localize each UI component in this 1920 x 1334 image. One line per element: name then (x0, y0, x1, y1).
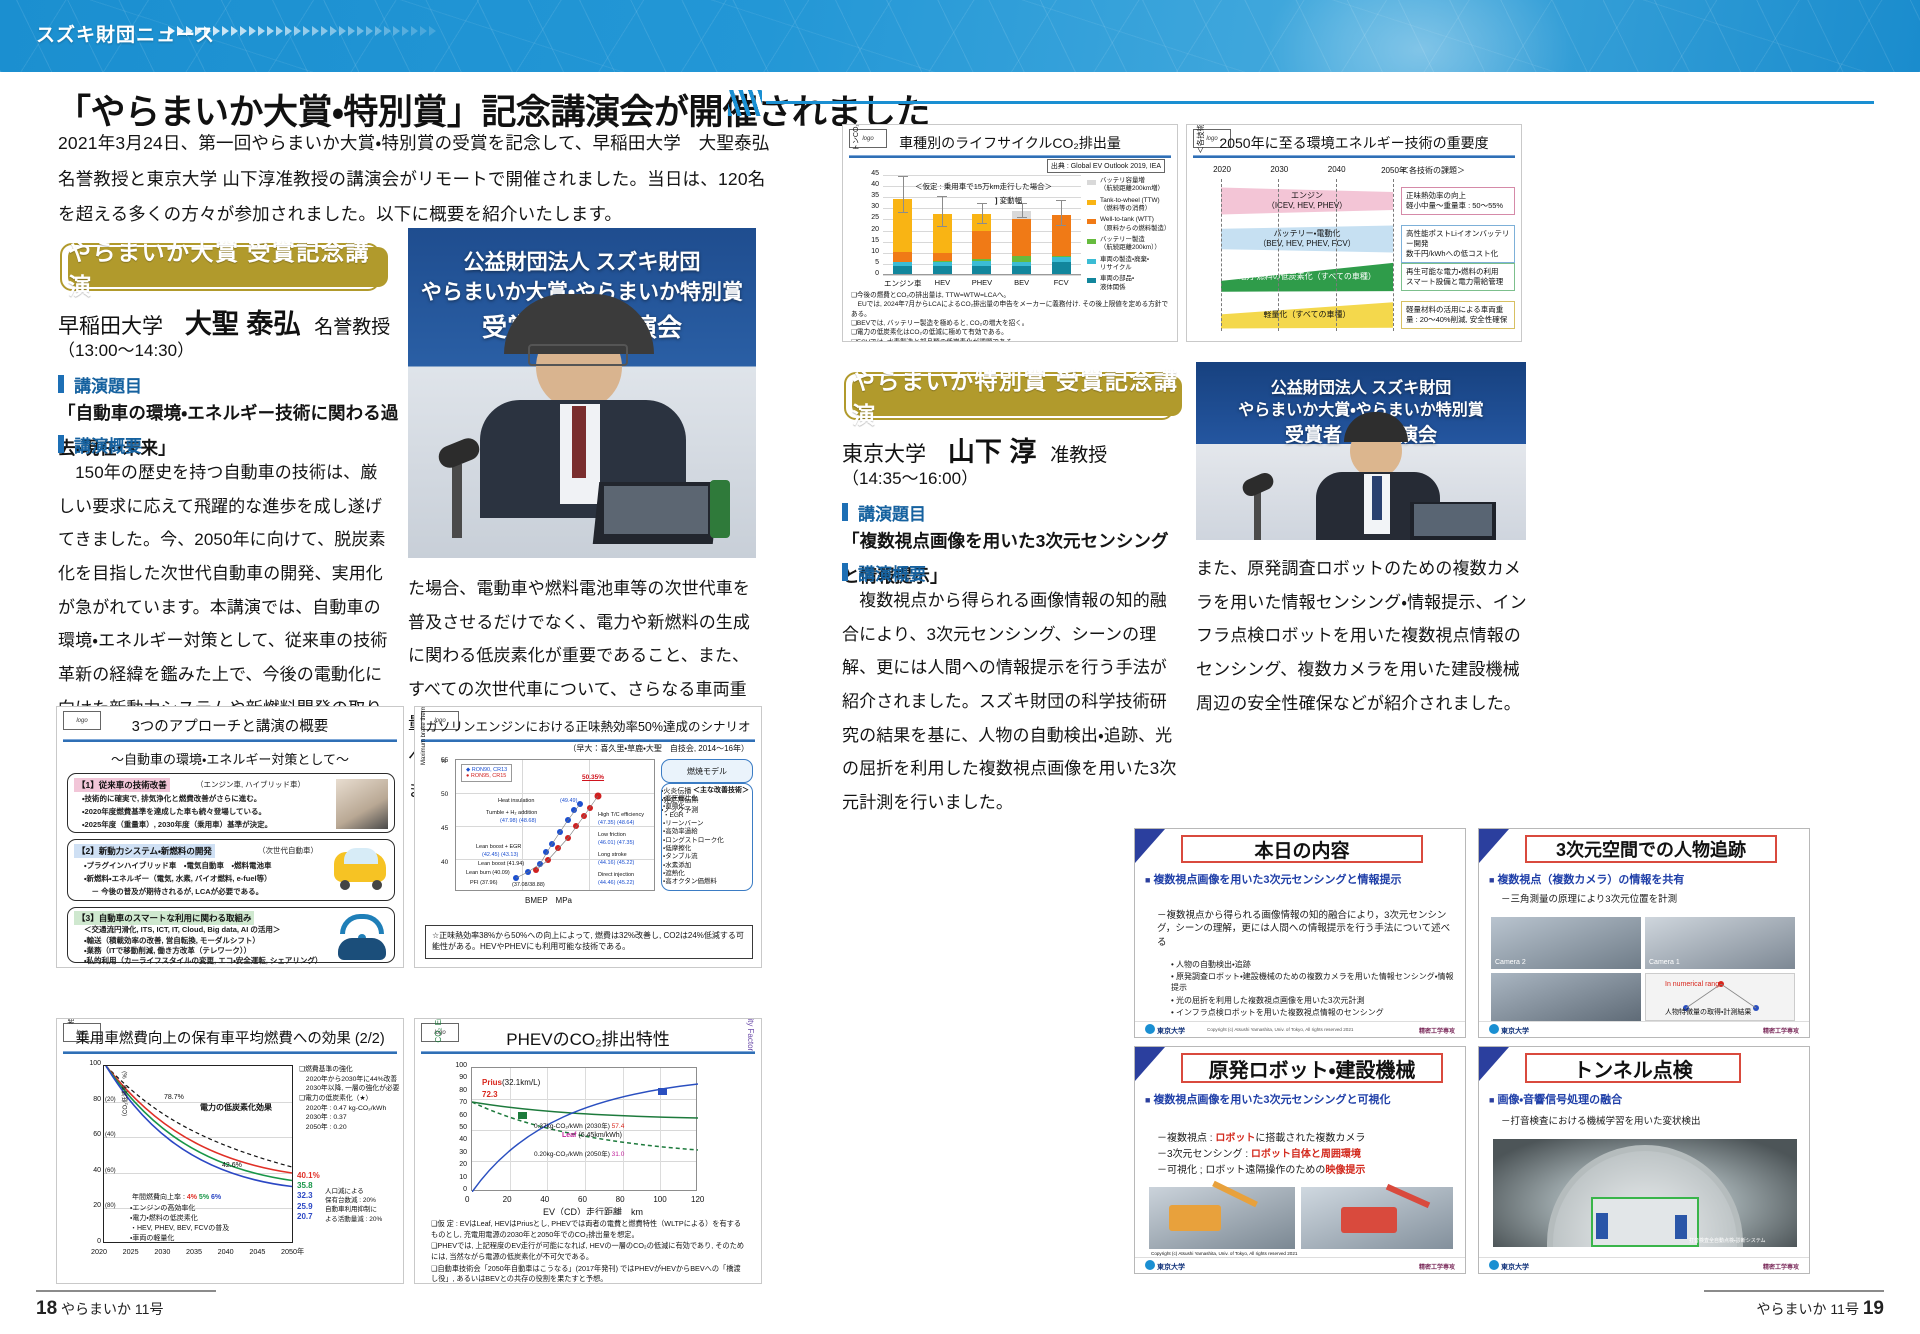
fleet-endlabel-4: 25.9 (297, 1202, 313, 1211)
award2-name: 山下 淳 (948, 437, 1037, 467)
tracking-corner-decor (1479, 829, 1509, 863)
gasoline-improve-item-6: ・ロングストローク化 (663, 837, 749, 845)
lca-legend-label: 車両の部品・ (1100, 275, 1177, 283)
fleet-xtick: 2035 (186, 1247, 202, 1256)
lca-legend-sub: （航続距離200km増） (1100, 185, 1177, 193)
phev-xtick: 20 (503, 1195, 512, 1204)
today-bullet-2: －複数視点から得られる画像情報の知的融合により，3次元センシング，シーンの理解，… (1157, 909, 1455, 949)
fleet-bullets: ・エンジンの高効率化 ・電力・燃料の低炭素化 ・HEV, PHEV, BEV, … (130, 1204, 229, 1245)
roadmap-dash (1278, 179, 1279, 331)
roadmap-band-label1: バッテリー・電動化 (1258, 229, 1355, 239)
lca-errlabel-row: ] 変動幅 (995, 195, 1022, 206)
lca-gridline (883, 175, 1081, 176)
tracking-cam2-label: Camera 2 (1495, 959, 1526, 966)
banner-glow (1260, 0, 1580, 72)
gasoline-improve-item-2: ・直噴化 (663, 803, 749, 811)
lca-legend-swatch (1087, 180, 1096, 185)
tunnel-worker-2-icon (1675, 1215, 1687, 1239)
nuclear-bullet-red: ロボット (1215, 1133, 1255, 1144)
ev-car-wheel2-icon (340, 880, 350, 890)
fleet-y2tick: (20) (105, 1097, 116, 1103)
lca-legend-sub: （航続距離200km）） (1100, 244, 1177, 252)
ev-car-window-icon (344, 848, 378, 864)
fleet-plot-area: 78.7% 42.6% 電力の低炭素化効果 年間燃費向上率 : 4% 5% 6%… (103, 1065, 293, 1243)
slide-today-title: 本日の内容 (1181, 835, 1423, 863)
lca-gridline (883, 197, 1081, 198)
approach-box-2: 【2】新動力システム・新燃料の開発 （次世代自動車） ・プラグインハイブリッド車… (67, 839, 395, 901)
slide-nuclear: 原発ロボット・建設機械 複数視点画像を用いた3次元センシングと可視化 －複数視点… (1134, 1046, 1466, 1274)
lca-xtick: FCV (1041, 278, 1081, 287)
phev-ytick: 80 (447, 1087, 467, 1094)
lca-footnote-4: ❑電力の低炭素化はCO₂の低減に極めて有効である。 (851, 328, 1171, 337)
slide-approaches-title: 3つのアプローチと講演の概要 (57, 715, 403, 736)
fleet-xtick: 2020 (91, 1247, 107, 1256)
today-sub-bullet-1: • 人物の自動検出・追跡 (1171, 959, 1457, 970)
gasoline-improve-item-7: ・低摩擦化 (663, 845, 749, 853)
phev-xtick: 40 (540, 1195, 549, 1204)
tunnel-footer-dept: 精密工学専攻 (1763, 1262, 1799, 1271)
lca-legend-sub: （原料からの燃料製造） (1100, 225, 1177, 233)
footer-rule-right (1704, 1290, 1884, 1292)
fleet-brace-4: よる活動量減 : 20% (325, 1215, 404, 1224)
fleet-pt2: 42.6% (222, 1162, 242, 1169)
lecture1-caption-1: 公益財団法人 スズキ財団 (408, 246, 756, 276)
tunnel-bullet-2: －打音検査における機械学習を用いた変状検出 (1501, 1115, 1799, 1128)
phev-notes: ❑仮 定 : EVはLeaf, HEVはPriusとし, PHEVでは両者の電費… (425, 1215, 753, 1277)
banner-arrow-icons (168, 23, 436, 39)
lca-ytick: 40 (861, 181, 879, 188)
footer-left-page: 18 (36, 1298, 57, 1319)
lecture2-caption-1: 公益財団法人 スズキ財団 (1196, 374, 1526, 398)
fleet-endlabel-1: 40.1% (297, 1171, 320, 1180)
lca-errorcap (1056, 225, 1066, 226)
award2-summary-right: また、原発調査ロボットのための複数カメラを用いた情報センシング・情報提示、インフ… (1196, 552, 1536, 720)
award2-heading-summary: 講演概要 (842, 560, 926, 585)
fleet-ytick: 0 (83, 1238, 101, 1245)
lca-errorbar (982, 204, 983, 224)
gasoline-improve-title: ＜主な改善技術＞ (693, 785, 749, 795)
award2-summary-left: 複数視点から得られる画像情報の知的融合により、3次元センシング、シーンの理解、更… (842, 584, 1178, 820)
award2-affiliation-text: 東京大学 (842, 443, 926, 466)
smart-car-icon (338, 938, 386, 960)
fleet-y2label: （CO₂低減率 %） (120, 1067, 129, 1120)
lca-xtick: PHEV (962, 278, 1002, 287)
lca-legend-swatch (1087, 259, 1096, 264)
nuclear-bullet-1: 複数視点画像を用いた3次元センシングと可視化 (1145, 1093, 1455, 1107)
fleet-dashed-label: 電力の低炭素化効果 (200, 1102, 272, 1113)
lca-errorbar (1061, 201, 1062, 226)
nuclear-corner-decor (1135, 1047, 1165, 1081)
lca-bar-segment (933, 261, 952, 266)
roadmap-task-line1: 軽量材料の活用による車両重 (1406, 305, 1510, 315)
lca-ytick: 25 (861, 214, 879, 221)
today-footer-dept: 精密工学専攻 (1419, 1026, 1455, 1035)
phev-ylabel: CO₂ Emission g/km (433, 1018, 444, 1067)
roadmap-task-line1: 正味熱効率の向上 (1406, 191, 1510, 201)
lca-legend-item: 車両の製造・廃棄・リサイクル (1087, 256, 1177, 273)
approach-1-bullet-1: ・技術的に確実で, 排気浄化と燃費改善がさらに進む。 (82, 794, 261, 804)
fleet-note-2: 2020年から2030年に44%改善 (299, 1075, 404, 1085)
roadmap-task-3: 再生可能な電力・燃料の利用スマート設備と電力需給管理 (1401, 263, 1515, 291)
nuclear-caption: Copyright (c) Atsushi Yamashita, Univ. o… (1151, 1251, 1451, 1256)
todai-logo-icon-4 (1489, 1260, 1499, 1270)
phev-ann-2050-text: 0.20kg-CO₂/kWh (2050年) (534, 1151, 610, 1158)
nuclear-footer: 東京大学 精密工学専攻 (1135, 1257, 1465, 1273)
fleet-notes: ❑燃費基準の強化 2020年から2030年に44%改善 2030年以降, 一層の… (299, 1065, 404, 1132)
lca-legend-swatch (1087, 239, 1096, 244)
roadmap-task-4: 軽量材料の活用による車両重量 : 20〜40%削減, 安全性確保 (1401, 301, 1515, 329)
nuclear-bullet-2: －3次元センシング : ロボット自体と周囲環境 (1157, 1147, 1457, 1163)
approach-3-bullet-1: ＜交通流円滑化, ITS, ICT, IT, Cloud, Big data, … (84, 925, 280, 935)
gasoline-scatter (456, 760, 656, 892)
lecture1-mic-stand (452, 464, 462, 538)
phev-plot-area: Prius(32.1km/L) 72.3 0.37kg-CO₂/kWh (203… (471, 1067, 697, 1191)
todai-logo-icon (1145, 1024, 1155, 1034)
roadmap-task-line2: 数千円/kWhへの低コスト化 (1406, 249, 1510, 259)
fleet-note-3: 2030年以降, 一層の強化が必要 (299, 1084, 404, 1094)
slide-lca-source: 出典 : Global EV Outlook 2019, IEA (1047, 159, 1165, 173)
roadmap-band-label2: （BEV, HEV, PHEV, FCV） (1258, 239, 1355, 249)
slide-tracking-title: 3次元空間での人物追跡 (1525, 835, 1777, 863)
nuclear-photo-1 (1149, 1187, 1295, 1249)
slide-roadmap: logo 2050年に至る環境エネルギー技術の重要度 ＜各技術の重要度＞ 202… (1186, 124, 1522, 342)
roadmap-year: 2040 (1322, 165, 1352, 174)
lca-legend-swatch (1087, 200, 1096, 205)
fleet-xtick: 2030 (154, 1247, 170, 1256)
fuel-nozzle-photo (336, 779, 388, 829)
tunnel-footer-univ: 東京大学 (1501, 1262, 1529, 1272)
roadmap-task-line1: 再生可能な電力・燃料の利用 (1406, 267, 1510, 277)
slide-approaches: logo 3つのアプローチと講演の概要 〜自動車の環境・エネルギー対策として〜 … (56, 706, 404, 968)
roadmap-band-1: エンジン（ICEV, HEV, PHEV） (1221, 185, 1393, 217)
phev-ann-2030-text: 0.37kg-CO₂/kWh (2030年) (534, 1123, 610, 1130)
nuclear-photo-2 (1301, 1187, 1453, 1249)
phev-ytick: 0 (447, 1186, 467, 1193)
lca-xtick: エンジン車 (883, 278, 923, 289)
roadmap-band-3: 電力・燃料の低炭素化（すべての車種） (1221, 261, 1393, 293)
lca-ytick: 45 (861, 170, 879, 177)
lca-ylabel: トンCO₂排出量 (851, 124, 861, 175)
fleet-bullet-3: ・HEV, PHEV, BEV, FCVの普及 (130, 1224, 229, 1234)
lecture1-tie (572, 406, 586, 478)
tracking-footer-dept: 精密工学専攻 (1763, 1026, 1799, 1035)
phev-ytick: 70 (447, 1099, 467, 1106)
phev-ytick: 20 (447, 1161, 467, 1168)
slide-phev: logo PHEVのCO₂排出特性 CO₂ Emission g/km Util… (414, 1018, 762, 1284)
excavator-arm-icon (1212, 1181, 1258, 1207)
slide-nuclear-title: 原発ロボット・建設機械 (1181, 1053, 1443, 1083)
roadmap-year: 2020 (1207, 165, 1237, 174)
lca-errorcap (1017, 217, 1027, 218)
footer-left-text: やらまいか 11号 (61, 1301, 163, 1317)
phev-y2label: Utility Factor (746, 1018, 755, 1077)
award2-pill: やらまいか特別賞 受賞記念講演 (852, 376, 1182, 416)
lecture2-tie (1372, 476, 1382, 520)
fleet-bullet-4: ・車両の軽量化 (130, 1234, 229, 1244)
fleet-rate-row: 年間燃費向上率 : 4% 5% 6% (132, 1192, 221, 1202)
fleet-rate-3: 6% (211, 1194, 221, 1201)
today-sub-bullet-4: • インフラ点検ロボットを用いた複数視点情報のセンシング (1171, 1007, 1457, 1018)
lca-legend-sub: （燃料等の消費） (1100, 205, 1177, 213)
roadmap-dash (1221, 179, 1222, 331)
lca-bar-segment (972, 261, 991, 266)
roadmap-band-2: バッテリー・電動化（BEV, HEV, PHEV, FCV） (1221, 223, 1393, 255)
slide-roadmap-title: 2050年に至る環境エネルギー技術の重要度 (1187, 133, 1521, 153)
fleet-y2tick: (80) (105, 1203, 116, 1209)
approach-box-3: 【3】自動車のスマートな利用に関わる取組み ＜交通流円滑化, ITS, ICT,… (67, 907, 395, 963)
wifi-icon (340, 914, 384, 934)
nuclear-footer-univ: 東京大学 (1157, 1262, 1185, 1272)
lca-legend-item: Well-to-tank (WTT)（原料からの燃料製造） (1087, 216, 1177, 233)
fleet-ylabel: 相対 CO₂排出量 ％ （2020年比） (65, 1018, 75, 1063)
footer-right: やらまいか 11号 19 (1757, 1298, 1884, 1320)
fleet-xtick: 2040 (218, 1247, 234, 1256)
today-sub-bullets: • 人物の自動検出・追跡• 原発調査ロボット・建設機械のための複数カメラを用いた… (1171, 959, 1457, 1019)
fleet-ytick: 60 (83, 1131, 101, 1138)
lca-footnote-3: ❑BEVでは, バッテリー製造を極めると, CO₂の増大を招く。 (851, 319, 1171, 328)
roadmap-band-4: 軽量化（すべての車種） (1221, 299, 1393, 331)
phev-ytick: 30 (447, 1149, 467, 1156)
today-bullet-1: 複数視点画像を用いた3次元センシングと情報提示 (1145, 873, 1455, 887)
slide-phev-title: PHEVのCO₂排出特性 (415, 1025, 761, 1050)
roadmap-task-header: ＜各技術の課題＞ (1401, 165, 1465, 176)
slide-lca-rule (849, 155, 1171, 158)
award2-heading-title: 講演題目 (842, 500, 926, 525)
today-footer: 東京大学 Copyright (c) Atsushi Yamashita, Un… (1135, 1021, 1465, 1037)
fleet-rate-label: 年間燃費向上率 : (132, 1194, 185, 1201)
gasoline-improve-list: ・高圧縮比化・直噴化・EGR・リーンバーン・高効率過給・ロングストローク化・低摩… (663, 795, 749, 886)
approach-3-bullet-4: ・私的利用（カーライフスタイルの変更, エコ・安全運転, シェアリング） (84, 956, 322, 966)
newsletter-spread: スズキ財団ニュース 「やらまいか大賞・特別賞」記念講演会が開催されました 202… (0, 0, 1920, 1334)
fleet-note-4: ❑電力の低炭素化（★） (299, 1094, 404, 1104)
lecture1-glasses (528, 344, 628, 366)
lca-ytick: 20 (861, 226, 879, 233)
today-footer-copy: Copyright (c) Atsushi Yamashita, Univ. o… (1207, 1027, 1353, 1032)
phev-leaf-name: Leaf (562, 1132, 576, 1139)
lca-bar-segment (972, 259, 991, 262)
slide-gasoline-rule (421, 739, 755, 742)
gasoline-improve-item-5: ・高効率過給 (663, 828, 749, 836)
fleet-bullet-1: ・エンジンの高効率化 (130, 1204, 229, 1214)
award2-honorific: 准教授 (1050, 445, 1107, 466)
fleet-rate-2: 5% (199, 1194, 209, 1201)
lead-paragraph: 2021年3月24日、第一回やらまいか大賞・特別賞の受賞を記念して、早稲田大学 … (58, 126, 770, 233)
approach-3-tag: 【3】自動車のスマートな利用に関わる取組み (74, 911, 254, 925)
phev-ann-2030: 0.37kg-CO₂/kWh (2030年) 57.4 (534, 1120, 624, 1130)
phev-xtick: 100 (653, 1195, 666, 1204)
todai-logo-icon-2 (1489, 1024, 1499, 1034)
phev-xtick: 0 (465, 1195, 469, 1204)
fleet-brace-3: 自動車利用抑制に (325, 1205, 404, 1214)
tracking-photo-3 (1491, 973, 1641, 1021)
nuclear-bullet-1: －複数視点 : ロボットに搭載された複数カメラ (1157, 1131, 1457, 1147)
roadmap-year: 2030 (1264, 165, 1294, 174)
roadmap-band-label1: 軽量化（すべての車種） (1263, 310, 1350, 320)
slide-gasoline: logo ガソリンエンジンにおける正味熱効率50%達成のシナリオ （早大：喜久里… (414, 706, 762, 968)
lca-errlabel: 変動幅 (1000, 196, 1023, 205)
phev-leaf-label: Leaf (6.45km/kWh) (562, 1132, 622, 1139)
award1-heading-summary: 講演概要 (58, 432, 142, 457)
lca-errorcap (937, 226, 947, 227)
fleet-brace-notes: 人口減による保有台数減 : 20%自動車利用抑制による活動量減 : 20% (325, 1187, 404, 1224)
fleet-bullet-2: ・電力・燃料の低炭素化 (130, 1214, 229, 1224)
slide-approaches-subtitle: 〜自動車の環境・エネルギー対策として〜 (57, 749, 403, 768)
phev-ann-2050: 0.20kg-CO₂/kWh (2050年) 31.0 (534, 1148, 624, 1158)
approach-2-bullet-3: － 今後の普及が期待されるが, LCAが必要である。 (84, 887, 263, 897)
headline-rule (766, 101, 1874, 104)
slide-approaches-rule (63, 739, 397, 742)
gasoline-note: ☆正味熱効率38%から50%への向上によって, 燃費は32%改善し, CO2は2… (425, 925, 753, 959)
roadmap-task-line2: 量 : 20〜40%削減, 安全性確保 (1406, 315, 1510, 325)
phev-ytick: 90 (447, 1074, 467, 1081)
lca-assumption: ＜仮定 : 乗用車で15万km走行した場合＞ (915, 181, 1052, 192)
fleet-y2tick: (60) (105, 1168, 116, 1174)
gasoline-plot-area: ◆ RON90, CR13 ● RON95, CR15 50.35% Heat … (455, 759, 655, 891)
tracking-cam1-label: Camera 1 (1649, 959, 1680, 966)
slide-phev-rule (421, 1051, 755, 1054)
tunnel-footer: 東京大学 精密工学専攻 (1479, 1257, 1809, 1273)
roadmap-task-2: 高性能ポストLiイオンバッテリー開発数千円/kWhへの低コスト化 (1401, 225, 1515, 263)
roadmap-task-1: 正味熱効率の向上軽小中量〜重量車 : 50〜55% (1401, 187, 1515, 215)
lca-ytick: 0 (861, 270, 879, 277)
slide-fleet: logo 乗用車燃費向上の保有車平均燃費への効果 (2/2) 相対 CO₂排出量… (56, 1018, 404, 1284)
phev-xtick: 80 (616, 1195, 625, 1204)
gasoline-improve-item-11: ・高オクタン価燃料 (663, 878, 749, 886)
lca-errorbar (903, 177, 904, 213)
approach-2-note: （次世代自動車） (258, 846, 318, 856)
roadmap-task-line1: 高性能ポストLiイオンバッテリー開発 (1406, 229, 1510, 249)
fleet-ytick: 100 (83, 1060, 101, 1067)
lca-gridline (883, 275, 1081, 276)
footer-right-page: 19 (1863, 1298, 1884, 1319)
roadmap-band-label1: 電力・燃料の低炭素化（すべての車種） (1238, 272, 1376, 282)
lecture1-laptop-screen (604, 486, 708, 534)
lca-bar-segment (1052, 257, 1071, 262)
lca-ytick: 15 (861, 237, 879, 244)
approach-2-bullet-1: ・プラグインハイブリッド車 ・電気自動車 ・燃料電池車 (84, 861, 272, 871)
lca-bar-segment (893, 252, 912, 262)
fleet-brace-1: 人口減による (325, 1187, 404, 1196)
award1-time: （13:00〜14:30） (58, 336, 194, 361)
lecture2-laptop-screen (1414, 504, 1492, 536)
fleet-rate-1: 4% (187, 1194, 197, 1201)
roadmap-ylabel: ＜各技術の重要度＞ (1195, 124, 1206, 185)
award1-affiliation-text: 早稲田大学 (58, 315, 163, 338)
fleet-ytick: 40 (83, 1167, 101, 1174)
fleet-note-6: 2030年 : 0.37 (299, 1113, 404, 1123)
lca-bar-segment (1052, 256, 1071, 257)
excavator-icon (1169, 1205, 1221, 1231)
tracking-result-label: 人物特徴量の取得・計測結果 (1665, 1007, 1751, 1017)
lca-ytick: 5 (861, 259, 879, 266)
fleet-pt1: 78.7% (164, 1094, 184, 1101)
slide-today: 本日の内容 複数視点画像を用いた3次元センシングと情報提示 －複数視点から得られ… (1134, 828, 1466, 1038)
gasoline-xlabel: BMEP MPa (525, 895, 572, 906)
fleet-ytick: 80 (83, 1096, 101, 1103)
footer-left: 18 やらまいか 11号 (36, 1298, 163, 1320)
lca-errorbar (942, 197, 943, 227)
lca-legend-label: Tank-to-wheel (TTW) (1100, 197, 1177, 205)
lca-footnote-1: ❑今後の燃費とCO₂の排出量は, TTW=WTW=LCAへ。 (851, 291, 1171, 300)
lca-legend-sub: リサイクル (1100, 264, 1177, 272)
tracking-range-label: In numerical range (1665, 981, 1723, 988)
phev-prius-sub: (32.1km/L) (502, 1078, 540, 1087)
gasoline-model-box: 燃焼モデル (661, 759, 753, 783)
slide-roadmap-rule (1193, 155, 1515, 158)
fleet-endlabel-5: 20.7 (297, 1212, 313, 1221)
ev-car-wheel-icon (372, 880, 382, 890)
lca-errorcap (937, 196, 947, 197)
lca-legend-swatch (1087, 278, 1096, 283)
tunnel-bullet-1: 画像・音響信号処理の融合 (1489, 1093, 1799, 1107)
lca-errorcap (977, 223, 987, 224)
award1-name: 大聖 泰弘 (185, 309, 301, 339)
phev-ytick: 50 (447, 1124, 467, 1131)
lca-footnote-2: EUでは, 2024年7月からLCAによるCO₂排出量の申告をメーカーに義務付け… (851, 300, 1171, 319)
footer-right-text: やらまいか 11号 (1757, 1301, 1859, 1317)
lca-errorcap (898, 176, 908, 177)
lca-legend-swatch (1087, 219, 1096, 224)
today-corner-decor (1135, 829, 1165, 863)
fleet-xtick: 2045 (249, 1247, 265, 1256)
slide-tracking: 3次元空間での人物追跡 複数視点（複数カメラ）の情報を共有 －三角測量の原理によ… (1478, 828, 1810, 1038)
lca-errorcap (898, 212, 908, 213)
lca-legend-label: Well-to-tank (WTT) (1100, 216, 1177, 224)
phev-xtick: 120 (691, 1195, 704, 1204)
fleet-note-5: 2020年 : 0.47 kg-CO₂/kWh (299, 1104, 404, 1114)
roadmap-task-line2: 軽小中量〜重量車 : 50〜55% (1406, 201, 1510, 211)
tunnel-photo (1493, 1139, 1797, 1247)
approach-1-tag: 【1】従来車の技術改善 (74, 778, 170, 792)
phev-note-1: ❑仮 定 : EVはLeaf, HEVはPriusとし, PHEVでは両者の電費… (431, 1219, 747, 1240)
lca-bar-segment (1012, 256, 1031, 262)
lca-ytick: 10 (861, 248, 879, 255)
lecture2-photo: 公益財団法人 スズキ財団 やらまいか大賞・やらまいか特別賞 受賞者 講演会 (1196, 362, 1526, 540)
tracking-bullet-1: 複数視点（複数カメラ）の情報を共有 (1489, 873, 1799, 887)
lca-footnote-5: ❑FCVでは, 水素製造と部品類の低炭素化が課題である。 (851, 338, 1171, 342)
slide-fleet-rule (63, 1051, 397, 1054)
lca-legend-item: バッテリー製造（航続距離200km）） (1087, 236, 1177, 253)
lecture1-photo: 公益財団法人 スズキ財団 やらまいか大賞・やらまいか特別賞 受賞者 講演会 (408, 228, 756, 558)
approach-3-bullet-3: ・業務（ITで移動削減, 働き方改革（テレワーク）） (84, 946, 251, 956)
slide-tunnel: トンネル点検 画像・音響信号処理の融合 －打音検査における機械学習を用いた変状検… (1478, 1046, 1810, 1274)
lca-bar-segment (893, 262, 912, 266)
approach-2-tag: 【2】新動力システム・新燃料の開発 (74, 844, 215, 858)
lca-legend-item: 車両の部品・液体関係 (1087, 275, 1177, 292)
phev-ytick: 100 (447, 1062, 467, 1069)
approach-1-bullet-2: ・2020年度燃費基準を達成した車も続々登場している。 (82, 807, 266, 817)
phev-note-3: ❑自動車技術会「2050年自動車はこうなる」(2017年発刊) ではPHEVがH… (431, 1264, 747, 1284)
gasoline-ylabel: Maximum brake thermal efficiency (421, 706, 427, 765)
fleet-y2tick: (40) (105, 1132, 116, 1138)
today-sub-bullet-2: • 原発調査ロボット・建設機械のための複数カメラを用いた情報センシング・情報提示 (1171, 971, 1457, 993)
roadmap-task-line2: スマート設備と電力需給管理 (1406, 277, 1510, 287)
approach-2-bullet-2: ・新燃料・エネルギー（電気, 水素, バイオ燃料, e-fuel等） (84, 874, 272, 884)
approach-1-note: （エンジン車, ハイブリッド車） (196, 780, 305, 790)
lca-xtick: BEV (1002, 278, 1042, 287)
lca-legend-label: 車両の製造・廃棄・ (1100, 256, 1177, 264)
lca-xtick: HEV (923, 278, 963, 287)
nuclear-bullet-pre: －複数視点 : (1157, 1133, 1215, 1144)
lca-errorcap (977, 203, 987, 204)
nuclear-bullet-pre: －可視化 ; ロボット遠隔操作のための (1157, 1165, 1325, 1176)
fleet-ytick: 20 (83, 1202, 101, 1209)
fleet-note-1: ❑燃費基準の強化 (299, 1065, 404, 1075)
phev-ytick: 10 (447, 1174, 467, 1181)
nuclear-footer-dept: 精密工学専攻 (1419, 1262, 1455, 1271)
lca-legend-item: バッテリ容量増（航続距離200km増） (1087, 177, 1177, 194)
phev-note-2: ❑PHEVでは, 上記程度のEV走行が可能になれば, HEVの一層のCO₂の低減… (431, 1241, 747, 1262)
